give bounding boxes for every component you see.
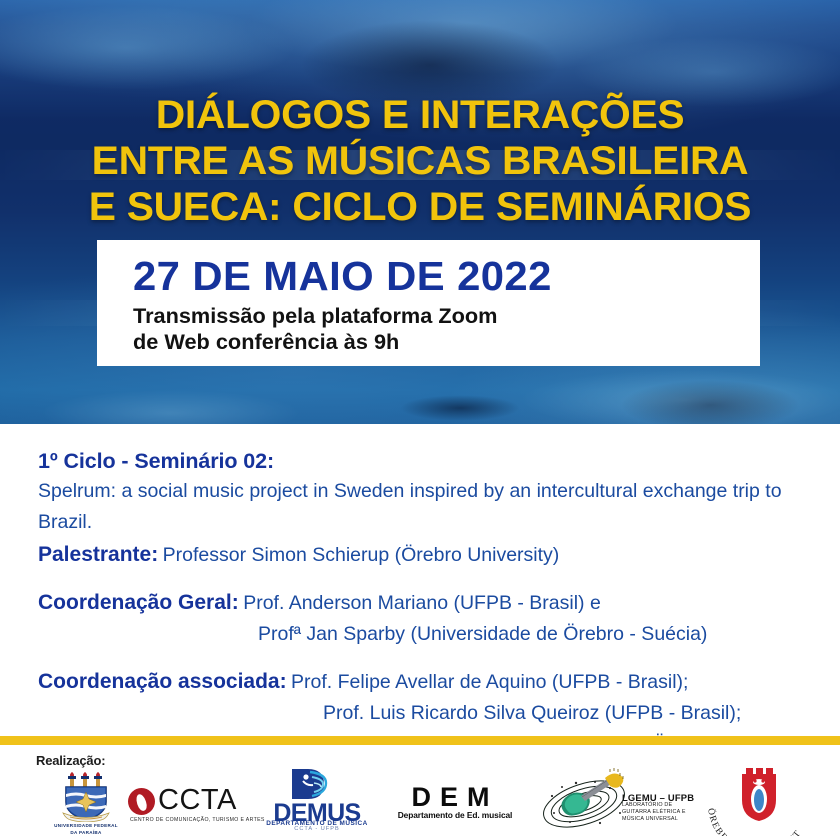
demus-mark-icon — [290, 768, 338, 800]
lgemu-caption: LABORATÓRIO DE GUITARRA ELÉTRICA E MÚSIC… — [622, 802, 690, 823]
orebro-universitet-logo: ÖREBRO UNIVERSITET — [700, 766, 818, 836]
realization-label: Realização: — [36, 753, 105, 768]
yellow-divider-bar — [0, 736, 840, 745]
ufpb-crest-icon — [60, 772, 112, 822]
associated-coordination-label: Coordenação associada: — [38, 670, 287, 693]
ccta-logo: CCTA CENTRO DE COMUNICAÇÃO, TURISMO E AR… — [128, 786, 238, 832]
dem-wordmark: DEM — [385, 782, 525, 813]
texture-light-blot-2 — [40, 390, 300, 424]
speaker-row: Palestrante: Professor Simon Schierup (Ö… — [38, 540, 812, 571]
abstract-text: Spelrum: a social music project in Swede… — [38, 476, 812, 538]
title-line-1: DIÁLOGOS E INTERAÇÕES — [0, 92, 840, 138]
date-box: 27 DE MAIO DE 2022 Transmissão pela plat… — [97, 240, 760, 366]
associated-coordination-row-1: Coordenação associada: Prof. Felipe Avel… — [38, 667, 812, 698]
event-date: 27 DE MAIO DE 2022 — [133, 254, 773, 298]
event-platform-line-2: de Web conferência às 9h — [133, 329, 766, 355]
ccta-caption: CENTRO DE COMUNICAÇÃO, TURISMO E ARTES — [130, 817, 265, 823]
content-area: 1º Ciclo - Seminário 02: Spelrum: a soci… — [0, 424, 840, 736]
lgemu-logo: LGEMU – UFPB LABORATÓRIO DE GUITARRA ELÉ… — [540, 766, 690, 836]
general-coordination-value-2: Profª Jan Sparby (Universidade de Örebro… — [38, 619, 812, 650]
ufpb-caption-line-2: da Paraíba — [40, 830, 132, 836]
general-coordination-value-1: Prof. Anderson Mariano (UFPB - Brasil) e — [243, 592, 601, 614]
ccta-flame-inner-icon — [135, 793, 149, 812]
ufpb-logo: Universidade Federal da Paraíba — [40, 772, 132, 838]
general-coordination-row-1: Coordenação Geral: Prof. Anderson Marian… — [38, 588, 812, 619]
dem-logo: DEM Departamento de Ed. musical — [385, 782, 525, 824]
speaker-value: Professor Simon Schierup (Örebro Univers… — [163, 544, 560, 566]
ccta-flame-icon — [128, 788, 155, 815]
demus-caption-2: CCTA - UFPB — [258, 826, 376, 832]
poster-root: DIÁLOGOS E INTERAÇÕES ENTRE AS MÚSICAS B… — [0, 0, 840, 840]
speaker-label: Palestrante: — [38, 543, 158, 566]
event-platform-line-1: Transmissão pela plataforma Zoom — [133, 303, 766, 329]
demus-logo: DEMUS DEPARTAMENTO DE MÚSICA CCTA - UFPB — [258, 768, 376, 832]
general-coordination-block: Coordenação Geral: Prof. Anderson Marian… — [38, 588, 812, 650]
title-line-3: E SUECA: CICLO DE SEMINÁRIOS — [0, 184, 840, 230]
texture-dark-blot-3 — [400, 395, 520, 421]
texture-dark-blot-2 — [620, 380, 800, 424]
general-coordination-label: Coordenação Geral: — [38, 591, 239, 614]
poster-title: DIÁLOGOS E INTERAÇÕES ENTRE AS MÚSICAS B… — [0, 92, 840, 230]
associated-coordination-value-2: Prof. Luis Ricardo Silva Queiroz (UFPB -… — [38, 698, 812, 729]
title-line-2: ENTRE AS MÚSICAS BRASILEIRA — [0, 138, 840, 184]
cycle-heading: 1º Ciclo - Seminário 02: — [38, 446, 812, 476]
associated-coordination-value-1: Prof. Felipe Avellar de Aquino (UFPB - B… — [291, 671, 688, 693]
texture-light-blot-1 — [520, 370, 840, 424]
orebro-shield-icon: ÖREBRO UNIVERSITET — [700, 766, 818, 836]
ccta-wordmark: CCTA — [158, 784, 237, 817]
ufpb-caption-line-1: Universidade Federal — [40, 823, 132, 829]
dem-caption: Departamento de Ed. musical — [385, 810, 525, 820]
